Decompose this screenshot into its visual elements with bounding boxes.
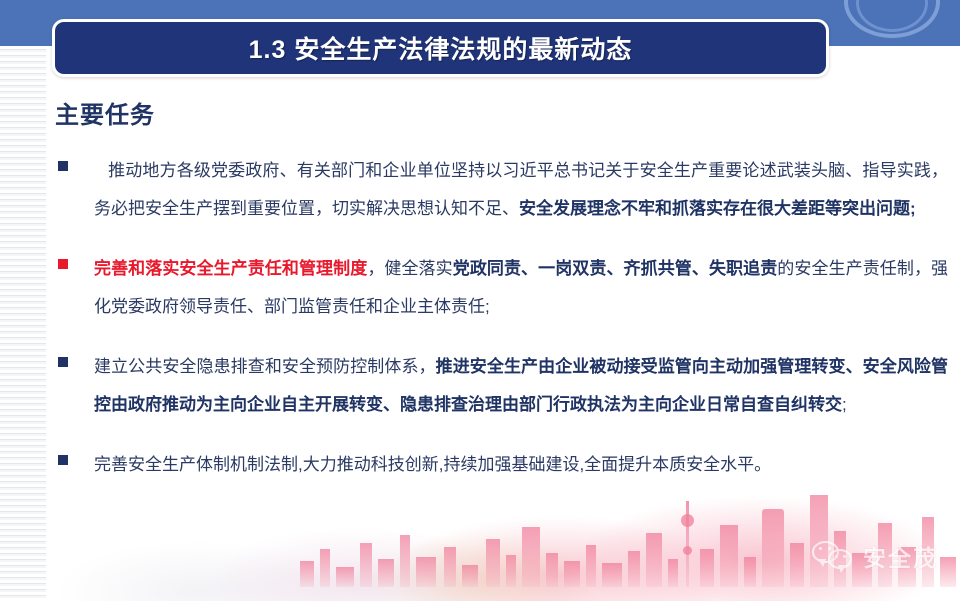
skyline-tv-tower-spire xyxy=(686,501,689,587)
skyline-building xyxy=(564,561,580,587)
skyline-building xyxy=(400,535,410,587)
watermark-brand-text: 安全茂 xyxy=(863,539,938,573)
skyline-building xyxy=(522,527,540,587)
skyline-building xyxy=(320,549,330,587)
bullet-text: 完善和落实安全生产责任和管理制度，健全落实党政同责、一岗双责、齐抓共管、失职追责… xyxy=(94,250,948,326)
slide-title-plate: 1.3 安全生产法律法规的最新动态 xyxy=(52,19,829,77)
bullet-square-icon xyxy=(58,357,68,367)
list-item: 完善和落实安全生产责任和管理制度，健全落实党政同责、一岗双责、齐抓共管、失职追责… xyxy=(58,250,948,326)
bullet-text: 完善安全生产体制机制法制,大力推动科技创新,持续加强基础建设,全面提升本质安全水… xyxy=(94,446,948,484)
wechat-bubble-small xyxy=(828,549,852,569)
skyline-building xyxy=(462,565,478,587)
presentation-slide: 1.3 安全生产法律法规的最新动态 主要任务 推动地方各级党委政府、有关部门和企… xyxy=(0,0,960,601)
wechat-eye-dot xyxy=(835,555,838,558)
skyline-building xyxy=(546,553,558,587)
skyline-building xyxy=(486,539,500,587)
skyline-tv-tower-sphere xyxy=(681,514,694,527)
list-item: 完善安全生产体制机制法制,大力推动科技创新,持续加强基础建设,全面提升本质安全水… xyxy=(58,446,948,484)
skyline-building xyxy=(506,555,516,587)
wechat-eye-dot xyxy=(843,555,846,558)
skyline-building xyxy=(668,559,678,587)
bullet-square-icon xyxy=(58,259,68,269)
list-item: 建立公共安全隐患排查和安全预防控制体系，推进安全生产由企业被动接受监管向主动加强… xyxy=(58,348,948,424)
skyline-building xyxy=(336,567,354,587)
skyline-building xyxy=(646,533,662,587)
skyline-building xyxy=(444,547,456,587)
skyline-building xyxy=(744,557,756,587)
skyline-building xyxy=(720,525,738,587)
skyline-building xyxy=(360,543,372,587)
left-stripe-decoration xyxy=(0,46,46,601)
list-item: 推动地方各级党委政府、有关部门和企业单位坚持以习近平总书记关于安全生产重要论述武… xyxy=(58,152,948,228)
skyline-building xyxy=(602,563,622,587)
skyline-building xyxy=(378,559,394,587)
skyline-building xyxy=(300,561,314,587)
wechat-logo-icon xyxy=(812,541,854,571)
page-title: 1.3 安全生产法律法规的最新动态 xyxy=(249,30,633,66)
bullet-square-icon xyxy=(58,455,68,465)
wechat-eye-dot xyxy=(828,547,831,550)
bullet-square-icon xyxy=(58,161,68,171)
skyline-building xyxy=(628,551,640,587)
section-heading: 主要任务 xyxy=(55,95,155,130)
wechat-eye-dot xyxy=(819,547,822,550)
skyline-building xyxy=(586,545,596,587)
skyline-building xyxy=(940,557,956,587)
skyline-building xyxy=(790,543,804,587)
bullet-text: 建立公共安全隐患排查和安全预防控制体系，推进安全生产由企业被动接受监管向主动加强… xyxy=(94,348,948,424)
bullet-text: 推动地方各级党委政府、有关部门和企业单位坚持以习近平总书记关于安全生产重要论述武… xyxy=(94,152,948,228)
skyline-building xyxy=(762,509,784,587)
skyline-building xyxy=(416,557,436,587)
bullet-list: 推动地方各级党委政府、有关部门和企业单位坚持以习近平总书记关于安全生产重要论述武… xyxy=(58,152,948,506)
skyline-tv-tower-sphere xyxy=(683,546,692,555)
wechat-watermark: 安全茂 xyxy=(812,539,938,573)
skyline-building xyxy=(700,549,714,587)
